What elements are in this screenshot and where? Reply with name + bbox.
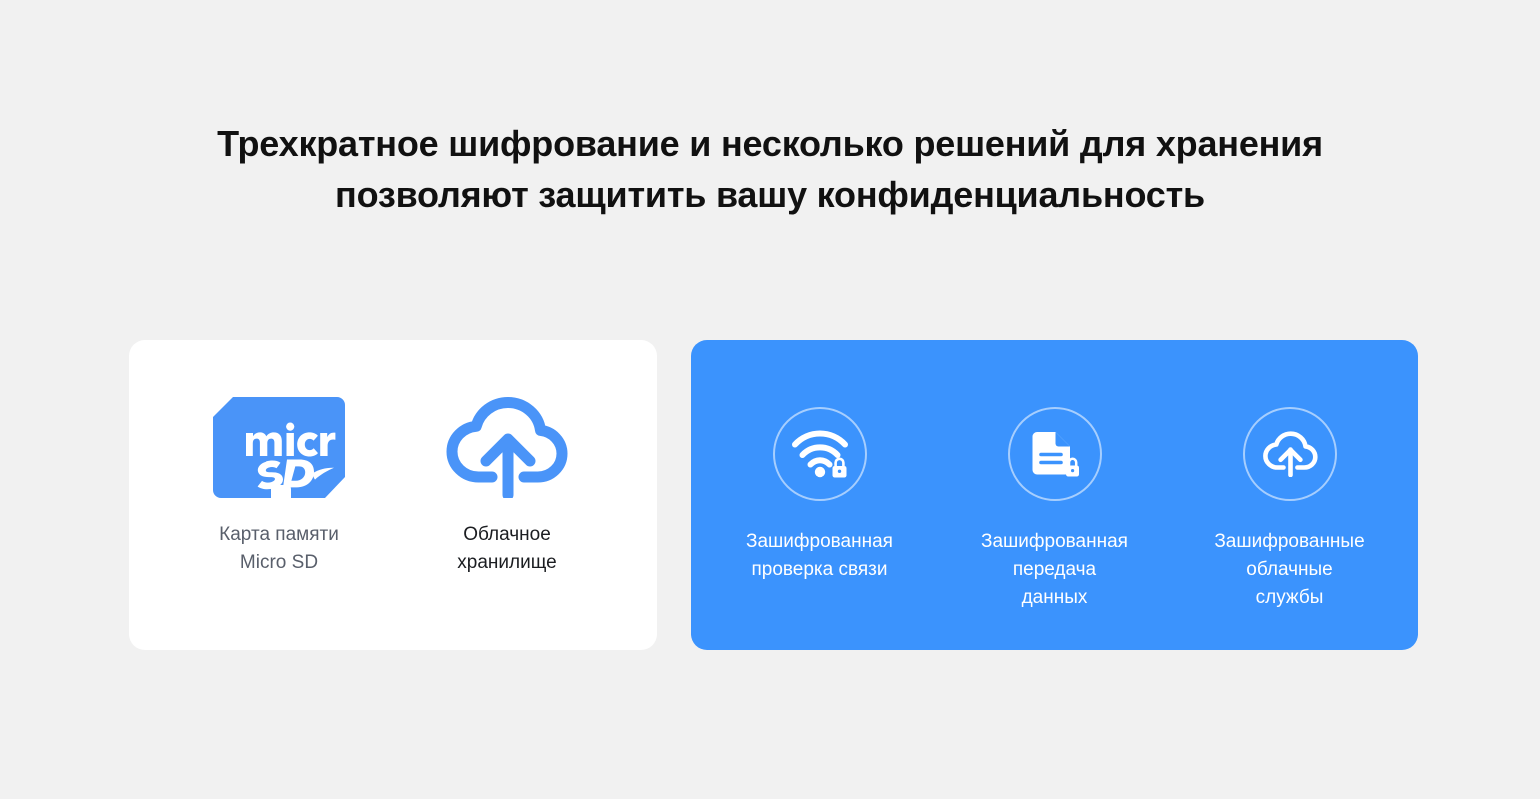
feature-label-line: Micro SD	[219, 549, 339, 577]
feature-label-line: облачные	[1214, 556, 1364, 584]
feature-micro-sd[interactable]: Карта памяти Micro SD	[165, 395, 393, 577]
cloud-upload-icon-slot	[445, 395, 569, 499]
wifi-lock-icon-slot	[773, 402, 867, 506]
cloud-upload-icon	[445, 397, 569, 498]
icon-ring	[1243, 407, 1337, 501]
feature-label: Зашифрованная передача данных	[981, 528, 1128, 612]
wifi-lock-icon	[792, 430, 848, 478]
feature-label-line: Зашифрованная	[981, 528, 1128, 556]
feature-encrypted-data-transfer[interactable]: Зашифрованная передача данных	[937, 402, 1172, 612]
feature-label-line: проверка связи	[746, 556, 893, 584]
micro-sd-icon-slot	[213, 395, 345, 499]
cloud-upload-outline-icon	[1262, 431, 1318, 477]
feature-label: Карта памяти Micro SD	[219, 521, 339, 577]
feature-label-line: Зашифрованная	[746, 528, 893, 556]
feature-label: Зашифрованная проверка связи	[746, 528, 893, 584]
cloud-upload-outline-icon-slot	[1243, 402, 1337, 506]
card-local-storage: Карта памяти Micro SD	[129, 340, 657, 650]
feature-label: Облачное хранилище	[457, 521, 556, 577]
feature-label-line: службы	[1214, 584, 1364, 612]
feature-label-line: данных	[981, 584, 1128, 612]
microsd-card-icon	[213, 397, 345, 498]
page-root: Трехкратное шифрование и несколько решен…	[0, 0, 1540, 799]
feature-label-line: передача	[981, 556, 1128, 584]
page-title: Трехкратное шифрование и несколько решен…	[170, 118, 1370, 220]
feature-label-line: хранилище	[457, 549, 556, 577]
lock-badge	[832, 459, 846, 478]
icon-ring	[1008, 407, 1102, 501]
document-lock-icon	[1029, 429, 1081, 479]
feature-label-line: Зашифрованные	[1214, 528, 1364, 556]
feature-cloud-storage[interactable]: Облачное хранилище	[393, 395, 621, 577]
card-encrypted-services: Зашифрованная проверка связи	[691, 340, 1418, 650]
storage-cards-row: Карта памяти Micro SD	[129, 340, 1418, 650]
document-lock-icon-slot	[1008, 402, 1102, 506]
icon-ring	[773, 407, 867, 501]
lock-badge	[1066, 459, 1079, 477]
feature-encrypted-link-check[interactable]: Зашифрованная проверка связи	[702, 402, 937, 584]
feature-encrypted-cloud-services[interactable]: Зашифрованные облачные службы	[1172, 402, 1407, 612]
feature-label-line: Облачное	[457, 521, 556, 549]
feature-label: Зашифрованные облачные службы	[1214, 528, 1364, 612]
feature-label-line: Карта памяти	[219, 521, 339, 549]
